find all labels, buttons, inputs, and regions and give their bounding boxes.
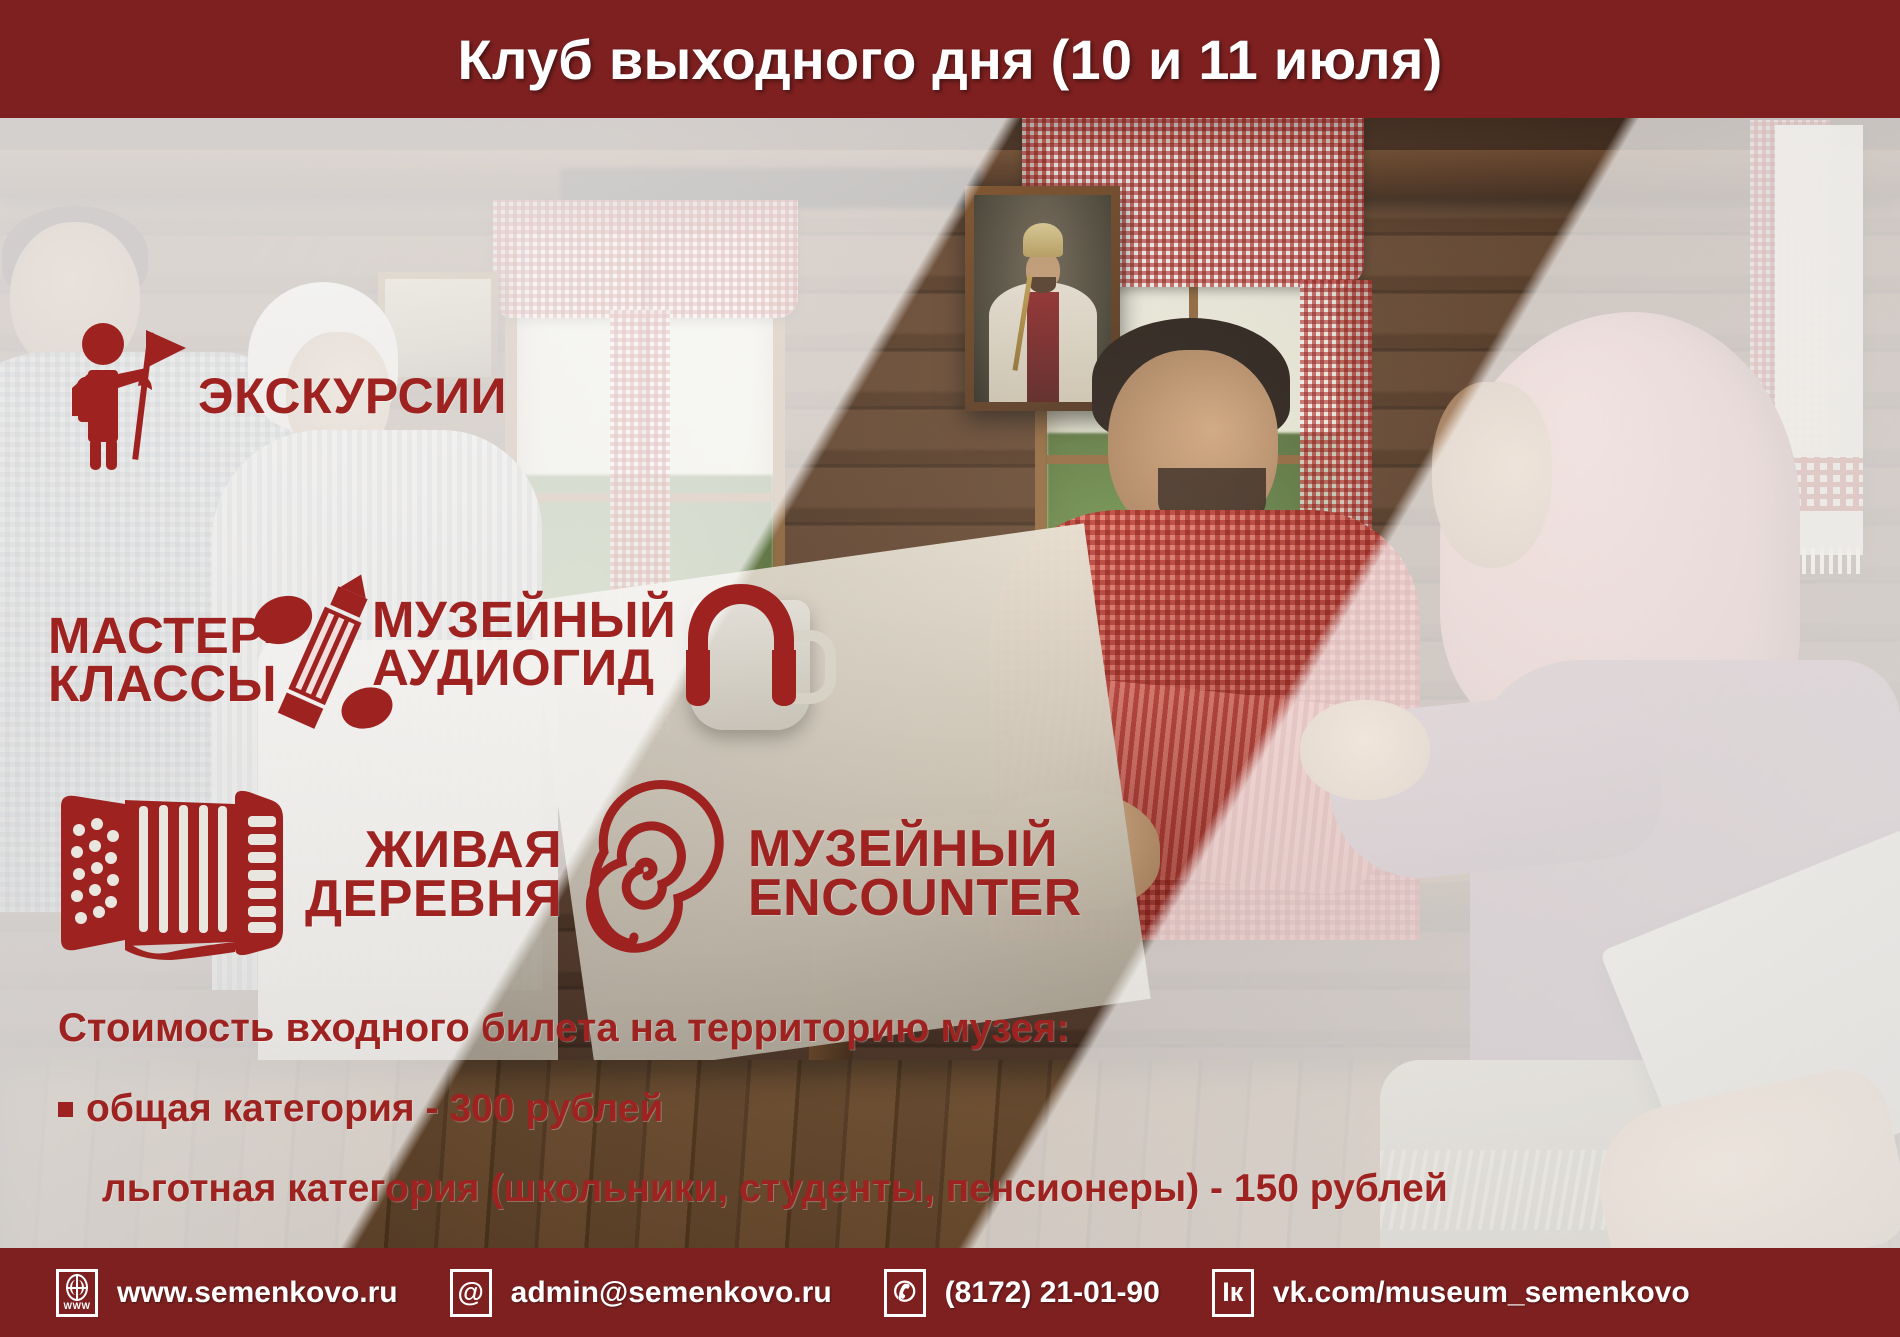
at-sign-icon: @ [450, 1269, 492, 1317]
footer-email-text: admin@semenkovo.ru [511, 1276, 832, 1310]
headphones-icon [680, 580, 802, 708]
tsar-beard [1030, 277, 1056, 293]
accordion-icon [55, 790, 287, 960]
feature-masterclasses-label-line2: КЛАССЫ [48, 660, 277, 708]
curtain-valance-left [493, 200, 798, 318]
feature-museum-encounter-label-line1: МУЗЕЙНЫЙ [748, 825, 1058, 874]
at-sign-glyph: @ [457, 1279, 483, 1306]
feature-masterclasses: МАСТЕР- КЛАССЫ [48, 580, 397, 740]
price-row-general-text: общая категория - 300 рублей [86, 1087, 663, 1131]
feature-excursions-label: ЭКСКУРСИИ [198, 373, 507, 421]
feature-living-village: ЖИВАЯ ДЕРЕВНЯ [55, 790, 562, 960]
globe-shape [66, 1274, 88, 1301]
footer-vk-text: vk.com/museum_semenkovo [1273, 1276, 1690, 1310]
footer-website[interactable]: WWW www.semenkovo.ru [56, 1269, 398, 1317]
feature-museum-encounter-label-line2: ENCOUNTER [748, 874, 1082, 923]
feature-audioguide: МУЗЕЙНЫЙ АУДИОГИД [372, 580, 802, 708]
tour-guide-with-flag-icon [70, 322, 188, 472]
price-row-reduced-text: льготная категория (школьники, студенты,… [102, 1167, 1448, 1211]
vk-logo-icon: Ӏк [1212, 1269, 1254, 1317]
price-block-title: Стоимость входного билета на территорию … [58, 1006, 1448, 1051]
poster: ЭКСКУРСИИ МАСТЕР- КЛАССЫ [0, 0, 1900, 1337]
globe-icon-sublabel: WWW [64, 1302, 91, 1311]
feature-masterclasses-label-line1: МАСТЕР- [48, 612, 281, 660]
phone-icon: ✆ [884, 1269, 926, 1317]
globe-www-icon: WWW [56, 1269, 98, 1317]
tsar-portrait [974, 195, 1111, 402]
spiral-icon [572, 790, 722, 958]
feature-audioguide-label-line2: АУДИОГИД [372, 644, 655, 692]
feature-living-village-label-line1: ЖИВАЯ [365, 826, 562, 875]
right-woman-hand [1300, 700, 1430, 800]
tsar-crown [1023, 223, 1063, 257]
price-row-general: общая категория - 300 рублей [58, 1087, 1448, 1131]
footer-phone[interactable]: ✆ (8172) 21-01-90 [884, 1269, 1160, 1317]
footer-email[interactable]: @ admin@semenkovo.ru [450, 1269, 832, 1317]
feature-audioguide-label-line1: МУЗЕЙНЫЙ [372, 596, 676, 644]
phone-glyph: ✆ [893, 1279, 916, 1306]
footer-bar: WWW www.semenkovo.ru @ admin@semenkovo.r… [0, 1248, 1900, 1337]
bullet-square-icon [58, 1102, 73, 1117]
price-block: Стоимость входного билета на территорию … [58, 1006, 1448, 1211]
tsar-robe [989, 282, 1097, 402]
price-row-reduced: льготная категория (школьники, студенты,… [102, 1167, 1448, 1211]
footer-contacts: WWW www.semenkovo.ru @ admin@semenkovo.r… [0, 1269, 1690, 1317]
footer-website-text: www.semenkovo.ru [117, 1276, 398, 1310]
feature-museum-encounter: МУЗЕЙНЫЙ ENCOUNTER [572, 790, 1082, 958]
vk-glyph: Ӏк [1222, 1279, 1243, 1306]
footer-phone-text: (8172) 21-01-90 [945, 1276, 1160, 1310]
feature-living-village-label-line2: ДЕРЕВНЯ [305, 875, 562, 924]
feature-excursions: ЭКСКУРСИИ [70, 322, 507, 472]
page-title: Клуб выходного дня (10 и 11 июля) [458, 27, 1443, 92]
right-woman-face [1432, 382, 1552, 568]
footer-vk[interactable]: Ӏк vk.com/museum_semenkovo [1212, 1269, 1690, 1317]
header-bar: Клуб выходного дня (10 и 11 июля) [0, 0, 1900, 118]
